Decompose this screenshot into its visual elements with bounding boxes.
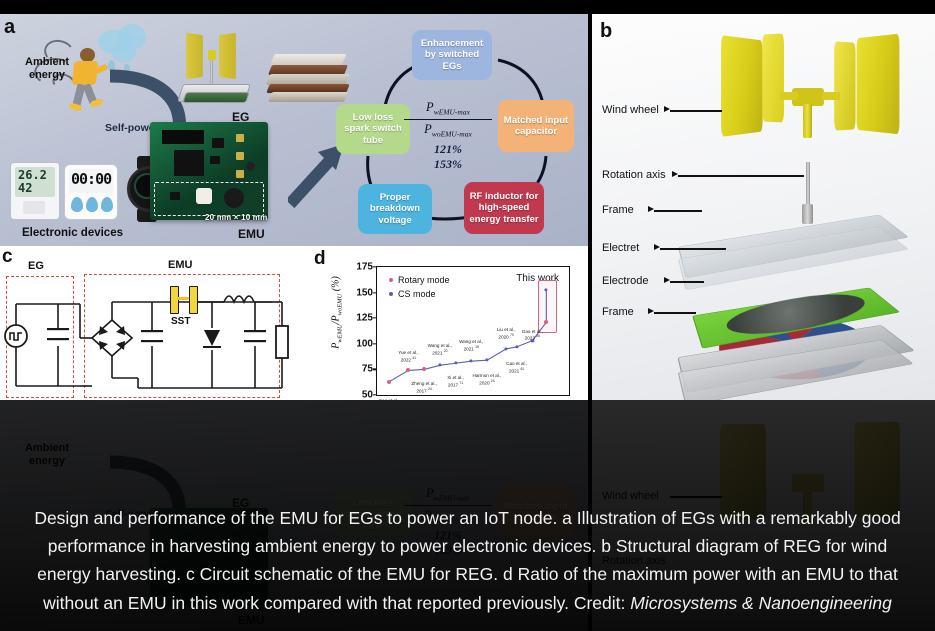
eg-turbine-image [178, 32, 252, 108]
callout-line-frame-bottom [654, 312, 696, 314]
caption-credit: Microsystems & Nanoengineering [630, 593, 892, 613]
chart-data-point [406, 368, 410, 372]
sst-plate-right [189, 286, 198, 314]
kitchen-timer-image: 00:00 [64, 164, 118, 220]
rotation-axis-collar [802, 204, 813, 224]
callout-rotation-axis: Rotation axis [602, 169, 666, 181]
figure-screenshot: a Ambient energy [0, 0, 935, 631]
callout-line-electrode [670, 281, 704, 283]
emu-pcb-image [150, 122, 268, 220]
chart-point-label: Zheng et al.,2017 24 [411, 381, 437, 394]
callout-arrow-wind-wheel [664, 106, 670, 112]
chart-data-point [544, 320, 548, 324]
chart-point-label: Wang et al.,2021 19 [459, 339, 483, 352]
callout-arrow-frame-top [648, 206, 654, 212]
callout-arrow-electret [654, 244, 660, 250]
callout-line-electret [660, 248, 726, 250]
y-axis-tick-label: 75 [362, 364, 373, 375]
callout-frame-bottom: Frame [602, 306, 634, 318]
circuit-schematic [0, 246, 310, 416]
panel-b-label: b [600, 20, 612, 43]
callout-line-frame-top [654, 210, 702, 212]
figure-caption: Design and performance of the EMU for EG… [0, 490, 935, 631]
cycle-box-breakdown: Proper breakdown voltage [358, 184, 432, 234]
ratio-numerator-p: P [426, 100, 434, 114]
cloud-icon [112, 44, 136, 62]
y-axis-tick-label: 175 [356, 262, 373, 273]
thermo-hygrometer-image: 26.2 42 [10, 162, 60, 220]
chart-plot-area: Rotary mode CS mode This work 5075100125… [376, 266, 570, 396]
chart-point-label: Liu et al.,2020 70 [497, 327, 516, 340]
device-timer-readout: 00:00 [71, 170, 111, 188]
ratio-numerator-sub: wEMU-max [434, 108, 470, 117]
chart-point-label: Cao et al.,2021 61 [506, 361, 527, 374]
panel-a-label: a [4, 16, 15, 39]
callout-arrow-rotation-axis [672, 171, 678, 177]
cycle-box-spark-switch: Low loss spark switch tube [336, 104, 410, 154]
callout-arrow-electrode [664, 277, 670, 283]
emu-label: EMU [238, 227, 265, 241]
sst-spark-icon [177, 297, 189, 300]
callout-wind-wheel: Wind wheel [602, 104, 659, 116]
sst-label: SST [171, 316, 190, 327]
y-axis-tick-label: 150 [356, 287, 373, 298]
chart-point-label: Gao et al.,2023 26 [522, 329, 543, 342]
chart-point-label: Wang et al.,2021 20 [428, 343, 452, 356]
device-humidity-readout: 42 [18, 181, 32, 195]
chart-point-label: Yue et al.,2022 41 [398, 350, 418, 363]
ambient-energy-label: Ambient energy [8, 56, 86, 81]
callout-line-wind-wheel [670, 110, 722, 112]
percent-value-2: 153% [400, 157, 496, 172]
callout-line-rotation-axis [678, 175, 804, 177]
chart-point-label: Harmon et al.,2020 24 [473, 373, 502, 386]
ratio-denominator-p: P [424, 122, 432, 136]
y-axis-label: PwEMU/PwoEMU (%) [331, 258, 344, 368]
figure-panel-group: a Ambient energy [0, 14, 935, 416]
cycle-box-capacitor: Matched input capacitor [498, 100, 574, 152]
callout-electrode: Electrode [602, 275, 648, 287]
panel-c: c EG EMU [0, 246, 310, 416]
panel-b: b [592, 14, 935, 402]
y-axis-tick-label: 125 [356, 313, 373, 324]
ratio-percent-values: 121% 153% [400, 142, 496, 172]
chart-data-point [422, 367, 426, 371]
ghost-ambient-label: Ambient energy [8, 442, 86, 467]
percent-value-1: 121% [400, 142, 496, 157]
cycle-box-rf-inductor: RF inductor for high-speed energy transf… [464, 182, 544, 234]
panel-d: d PwEMU/PwoEMU (%) Rotary mode CS mode T… [310, 246, 588, 416]
y-axis-tick-label: 100 [356, 338, 373, 349]
power-ratio-formula: PwEMU-max PwoEMU-max [400, 100, 496, 138]
chart-point-label: Xi et al.,2017 71 [447, 375, 464, 388]
panel-d-label: d [314, 248, 326, 270]
electronic-devices-label: Electronic devices [22, 227, 123, 239]
cycle-box-enhancement: Enhancement by switched EGs [412, 30, 492, 80]
callout-electret: Electret [602, 242, 639, 254]
panel-a: a Ambient energy [0, 14, 588, 246]
y-axis-tick-label: 50 [362, 390, 373, 401]
callout-frame-top: Frame [602, 204, 634, 216]
device-temperature-readout: 26.2 [18, 168, 47, 182]
emu-dimension-label: 20 mm × 10 mm [205, 213, 267, 222]
chart-data-point [387, 380, 391, 384]
sst-plate-left [170, 286, 179, 314]
callout-arrow-frame-bottom [648, 308, 654, 314]
wind-wheel-image [718, 34, 908, 164]
ratio-denominator-sub: woEMU-max [432, 129, 472, 138]
